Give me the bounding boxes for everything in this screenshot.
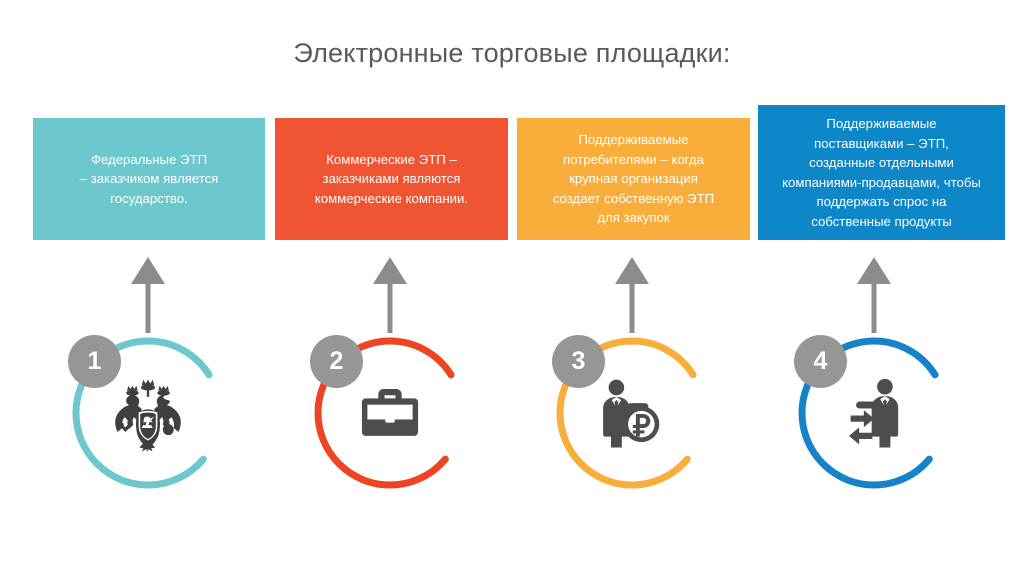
category-box-2-text: Коммерческие ЭТП – заказчиками являются …: [315, 150, 468, 209]
step-badge-1: 1: [68, 335, 121, 388]
page-title: Электронные торговые площадки:: [0, 38, 1024, 69]
businessman-exchange-arrows-icon: [835, 375, 913, 453]
step-circle-2[interactable]: 2: [310, 333, 470, 493]
step-number-1: 1: [88, 349, 102, 374]
step-circle-1[interactable]: 1: [68, 333, 228, 493]
category-box-1[interactable]: Федеральные ЭТП – заказчиком является го…: [33, 118, 265, 240]
step-badge-2: 2: [310, 335, 363, 388]
russian-coat-of-arms-icon: [109, 375, 187, 453]
businessman-ruble-coin-icon: [593, 375, 671, 453]
category-box-4[interactable]: Поддерживаемые поставщиками – ЭТП, созда…: [758, 105, 1005, 240]
up-arrow-4-icon: [852, 255, 896, 333]
up-arrow-3-icon: [610, 255, 654, 333]
step-number-4: 4: [814, 349, 828, 374]
up-arrow-2-icon: [368, 255, 412, 333]
category-box-3[interactable]: Поддерживаемые потребителями – когда кру…: [517, 118, 750, 240]
infographic-slide: Электронные торговые площадки: Федеральн…: [0, 0, 1024, 575]
step-number-3: 3: [572, 349, 586, 374]
up-arrow-1-icon: [126, 255, 170, 333]
category-box-3-text: Поддерживаемые потребителями – когда кру…: [553, 130, 714, 228]
step-circle-3[interactable]: 3: [552, 333, 712, 493]
briefcase-icon: [351, 375, 429, 453]
step-badge-3: 3: [552, 335, 605, 388]
step-circle-4[interactable]: 4: [794, 333, 954, 493]
step-badge-4: 4: [794, 335, 847, 388]
category-box-1-text: Федеральные ЭТП – заказчиком является го…: [80, 150, 219, 209]
category-box-4-text: Поддерживаемые поставщиками – ЭТП, созда…: [782, 114, 981, 231]
step-number-2: 2: [330, 349, 344, 374]
category-box-2[interactable]: Коммерческие ЭТП – заказчиками являются …: [275, 118, 508, 240]
